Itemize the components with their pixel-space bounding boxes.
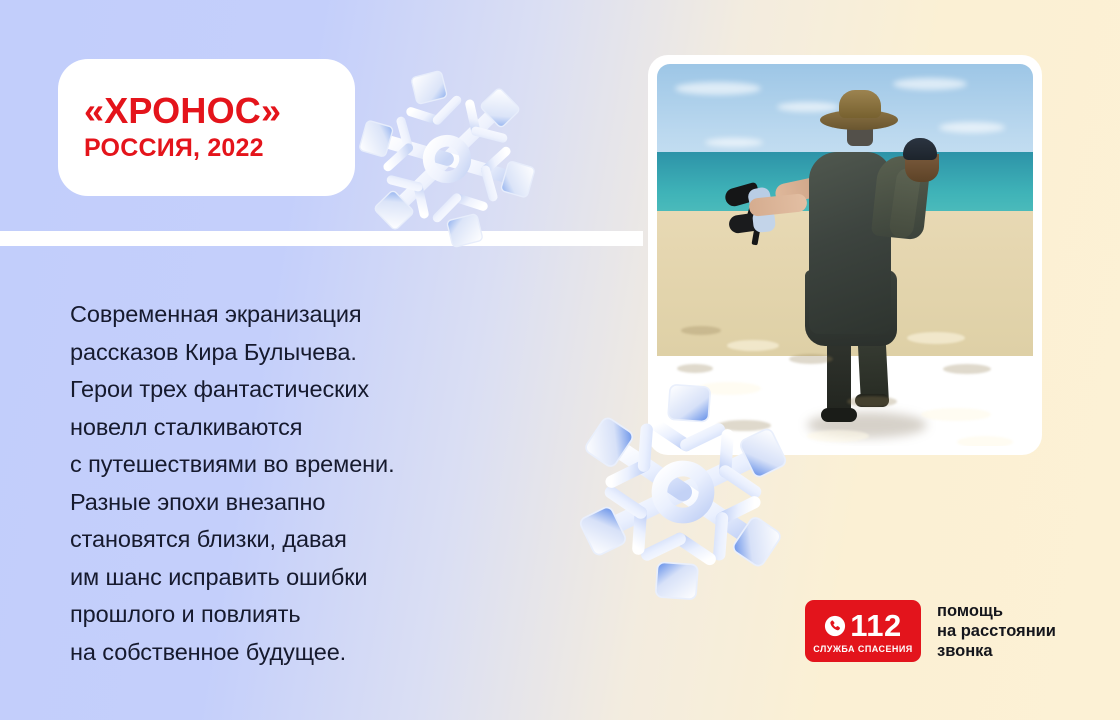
- poster-canvas: «ХРОНОС» РОССИЯ, 2022 Современная экрани…: [0, 0, 1120, 720]
- sand-texture: [807, 430, 869, 442]
- emergency-badge-row: 112: [824, 610, 902, 641]
- cloud-shape: [893, 78, 967, 90]
- sand-texture: [921, 408, 991, 421]
- man-hat-crown: [839, 90, 881, 118]
- title-card: «ХРОНОС» РОССИЯ, 2022: [58, 59, 355, 196]
- emergency-tagline: помощь на расстоянии звонка: [937, 601, 1056, 661]
- cloud-shape: [705, 138, 763, 147]
- snowflake-icon: [558, 372, 807, 612]
- sand-texture: [727, 340, 779, 351]
- sand-texture: [907, 332, 965, 344]
- man-shoe: [821, 408, 857, 422]
- title-subtitle: РОССИЯ, 2022: [84, 133, 355, 163]
- woman-hat: [903, 138, 937, 160]
- sand-texture: [943, 364, 991, 374]
- page-title: «ХРОНОС»: [84, 92, 355, 130]
- divider-band: [0, 231, 643, 246]
- cloud-shape: [675, 82, 761, 95]
- cloud-shape: [777, 102, 839, 112]
- sand-texture: [789, 354, 833, 364]
- synopsis-text: Современная экранизация рассказов Кира Б…: [70, 296, 540, 671]
- sand-texture: [677, 364, 713, 373]
- sand-texture: [681, 326, 721, 335]
- emergency-number-badge: 112 СЛУЖБА СПАСЕНИЯ: [805, 600, 921, 662]
- cloud-shape: [939, 122, 1005, 133]
- emergency-service-logo: 112 СЛУЖБА СПАСЕНИЯ помощь на расстоянии…: [805, 600, 1056, 662]
- emergency-number: 112: [850, 610, 902, 641]
- sand-texture: [957, 436, 1013, 446]
- emergency-service-caption: СЛУЖБА СПАСЕНИЯ: [813, 644, 912, 654]
- sand-texture: [847, 396, 897, 407]
- phone-in-circle-icon: [824, 615, 846, 637]
